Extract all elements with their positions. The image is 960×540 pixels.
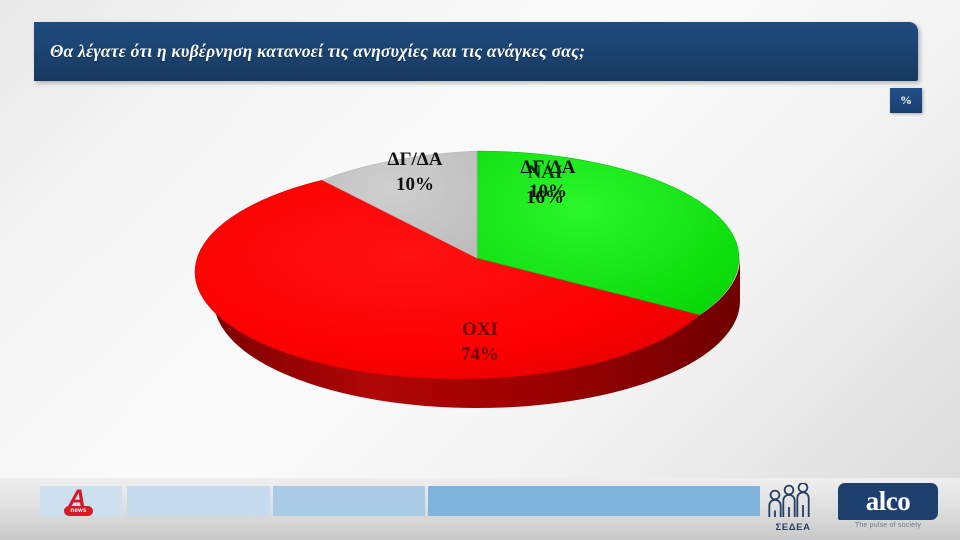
pie-chart: ΔΓ/ΔΑ 10% ΔΓ/ΔΑ 10% ΝΑΙ 16% ΟΧΙ 74%: [190, 105, 770, 475]
sedea-logo: ΣΕΔΕΑ: [762, 483, 824, 533]
pie-label-oxi-text: ΟΧΙ: [420, 317, 540, 342]
pie-label-dgda-text: ΔΓ/ΔΑ: [355, 147, 475, 172]
alco-wordmark: alco: [866, 488, 911, 515]
pie-label-oxi: ΟΧΙ 74%: [420, 317, 540, 367]
percent-unit-badge: %: [890, 88, 922, 113]
pie-label-oxi-pct: 74%: [420, 342, 540, 367]
percent-unit-label: %: [900, 93, 912, 108]
alco-box: alco: [838, 483, 938, 520]
pie-label-dgda-pct: 10%: [355, 172, 475, 197]
sedea-people-icon: [762, 483, 824, 521]
question-title-bar: Θα λέγατε ότι η κυβέρνηση κατανοεί τις α…: [34, 22, 918, 81]
footer-bar-segment-2: [127, 486, 270, 516]
sedea-label: ΣΕΔΕΑ: [762, 522, 824, 533]
alpha-news-badge: news: [64, 506, 93, 516]
pie-label-nai: ΝΑΙ 16%: [485, 160, 605, 210]
page-title: Θα λέγατε ότι η κυβέρνηση κατανοεί τις α…: [34, 41, 585, 62]
alpha-news-logo: A news: [63, 487, 97, 517]
pie-chart-svg: ΔΓ/ΔΑ 10%: [190, 105, 770, 475]
pie-label-nai-pct: 16%: [485, 185, 605, 210]
pie-label-nai-text: ΝΑΙ: [485, 160, 605, 185]
alco-tagline: The pulse of society: [838, 522, 938, 529]
pie-label-dgda: ΔΓ/ΔΑ 10%: [355, 147, 475, 197]
footer-bar-segment-4: [428, 486, 760, 516]
footer-bar-segment-3: [273, 486, 425, 516]
alco-logo: alco The pulse of society: [838, 483, 938, 535]
